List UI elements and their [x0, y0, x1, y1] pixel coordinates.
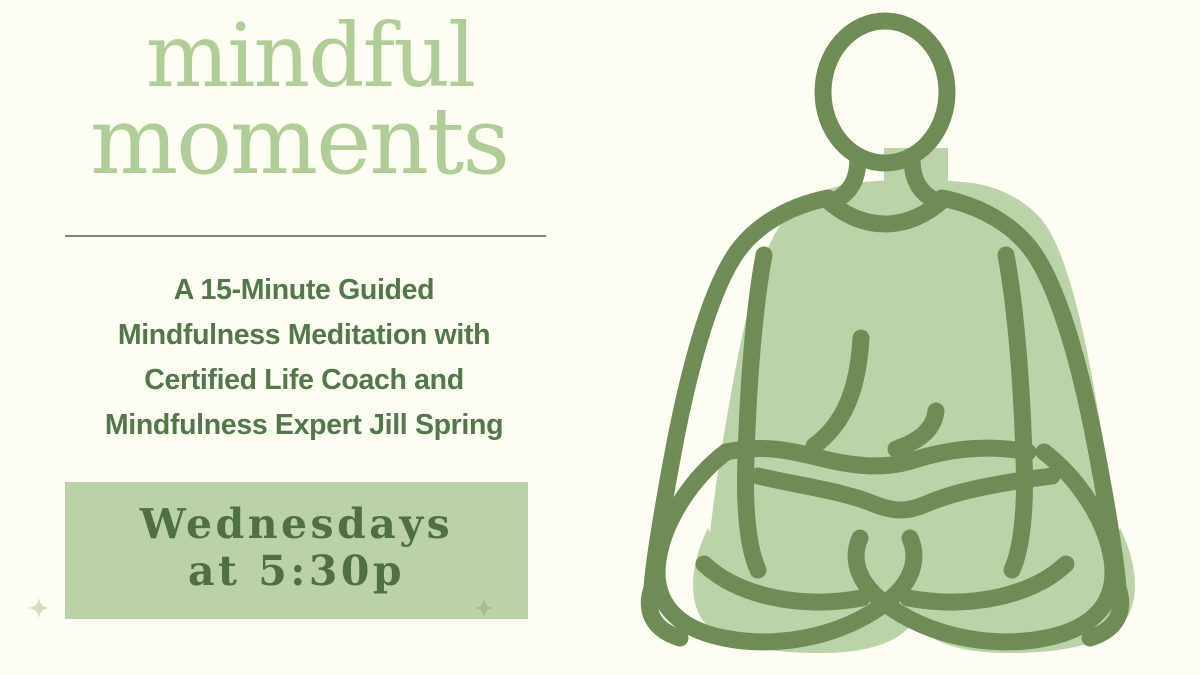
head-outline [823, 21, 947, 163]
subtitle-line-3: Certified Life Coach and [44, 358, 564, 403]
schedule-time: at 5:30p [188, 546, 405, 597]
sparkle-icon [27, 596, 51, 620]
page-title: mindful moments [60, 18, 552, 182]
poster-canvas: mindful moments A 15-Minute Guided Mindf… [0, 0, 1200, 675]
subtitle-line-1: A 15-Minute Guided [44, 268, 564, 313]
left-text-column: mindful moments A 15-Minute Guided Mindf… [0, 0, 600, 675]
meditating-person-illustration [596, 8, 1200, 675]
title-line-moments: moments [46, 102, 552, 182]
schedule-day: Wednesdays [140, 503, 453, 546]
schedule-banner: Wednesdays at 5:30p [65, 482, 528, 619]
title-divider [65, 235, 546, 237]
subtitle-line-2: Mindfulness Meditation with [44, 313, 564, 358]
neck-left [834, 157, 858, 201]
subtitle-block: A 15-Minute Guided Mindfulness Meditatio… [44, 268, 564, 448]
title-line-mindful: mindful [68, 18, 552, 94]
subtitle-line-4: Mindfulness Expert Jill Spring [44, 403, 564, 448]
